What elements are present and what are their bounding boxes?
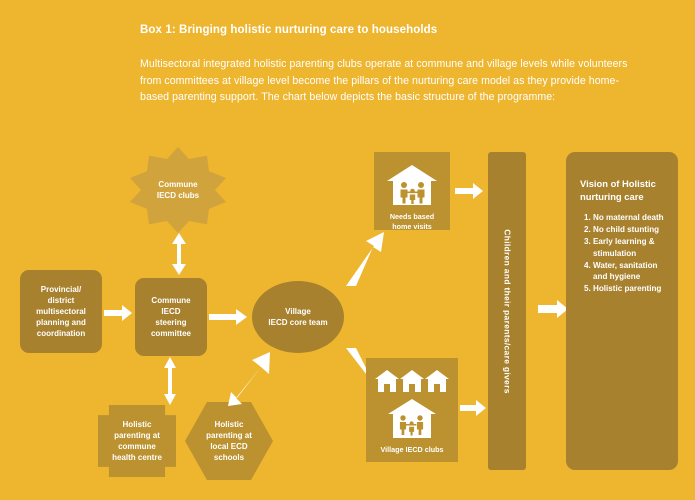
node-ecd-schools-line3: local ECD xyxy=(210,442,247,451)
arrow-home-visits-to-children xyxy=(455,183,483,199)
house-with-family-icon xyxy=(386,164,438,206)
node-children-parents-care-givers: Children and their parents/care givers xyxy=(488,152,526,470)
vision-item: Water, sanitation and hygiene xyxy=(593,260,668,282)
home-visits-caption-line1: Needs based xyxy=(390,212,434,221)
home-visits-caption: Needs based home visits xyxy=(386,212,438,231)
arrow-village-core-to-home-visits xyxy=(344,230,384,288)
arrow-provincial-to-committee xyxy=(104,305,132,321)
node-needs-based-home-visits: Needs based home visits xyxy=(374,152,450,230)
node-provincial-line2: district xyxy=(48,296,75,305)
node-health-centre-line2: parenting at xyxy=(114,431,160,440)
node-committee-line1: Commune xyxy=(151,296,190,305)
arrow-committee-to-health-centre xyxy=(162,357,178,405)
node-provincial-district: Provincial/ district multisectoral plann… xyxy=(20,270,102,353)
node-committee-line4: committee xyxy=(151,329,191,338)
node-holistic-parenting-ecd-schools: Holistic parenting at local ECD schools xyxy=(185,402,273,480)
node-provincial-line3: multisectoral xyxy=(36,307,86,316)
node-village-core-line1: Village xyxy=(285,307,311,316)
node-health-centre-line4: health centre xyxy=(112,453,162,462)
node-provincial-line1: Provincial/ xyxy=(41,285,81,294)
node-village-iecd-clubs: Village IECD clubs xyxy=(366,358,458,462)
node-village-core-line2: IECD core team xyxy=(268,318,327,327)
node-vision-holistic-nurturing-care: Vision of Holistic nurturing care No mat… xyxy=(566,152,678,470)
node-ecd-schools-line4: schools xyxy=(214,453,244,462)
node-village-iecd-core-team: Village IECD core team xyxy=(252,281,344,353)
vision-item: No maternal death xyxy=(593,212,668,223)
home-visits-caption-line2: home visits xyxy=(392,222,432,231)
three-houses-and-family-house-icon xyxy=(374,368,450,440)
node-provincial-line4: planning and xyxy=(36,318,86,327)
node-commune-iecd-clubs: Commune IECD clubs xyxy=(128,147,228,233)
box-title: Box 1: Bringing holistic nurturing care … xyxy=(140,24,660,36)
node-ecd-schools-line1: Holistic xyxy=(215,420,244,429)
node-commune-steering-committee: Commune IECD steering committee xyxy=(135,278,207,356)
children-band-label: Children and their parents/care givers xyxy=(502,229,513,393)
node-commune-iecd-clubs-line1: Commune xyxy=(158,180,197,189)
node-ecd-schools-line2: parenting at xyxy=(206,431,252,440)
arrow-ecd-schools-to-village-core xyxy=(232,352,274,406)
vision-title: Vision of Holistic nurturing care xyxy=(580,178,668,203)
village-clubs-caption: Village IECD clubs xyxy=(377,445,448,455)
node-health-centre-line1: Holistic xyxy=(123,420,152,429)
node-provincial-line5: coordination xyxy=(37,329,85,338)
node-holistic-parenting-health-centre: Holistic parenting at commune health cen… xyxy=(98,405,176,477)
vision-item: No child stunting xyxy=(593,224,668,235)
node-health-centre-line3: commune xyxy=(118,442,156,451)
vision-item: Early learning & stimulation xyxy=(593,236,668,258)
node-commune-iecd-clubs-line2: IECD clubs xyxy=(157,191,199,200)
arrow-committee-to-village-core xyxy=(209,309,247,325)
arrow-committee-to-clubs xyxy=(170,233,188,275)
arrow-children-to-vision xyxy=(538,300,568,318)
box-intro-paragraph: Multisectoral integrated holistic parent… xyxy=(140,56,645,106)
arrow-village-clubs-to-children xyxy=(460,400,486,416)
node-committee-line3: steering xyxy=(155,318,186,327)
vision-item: Holistic parenting xyxy=(593,283,668,294)
node-committee-line2: IECD xyxy=(161,307,180,316)
vision-list: No maternal death No child stunting Earl… xyxy=(580,212,668,294)
box-figure-page: Box 1: Bringing holistic nurturing care … xyxy=(0,0,695,500)
